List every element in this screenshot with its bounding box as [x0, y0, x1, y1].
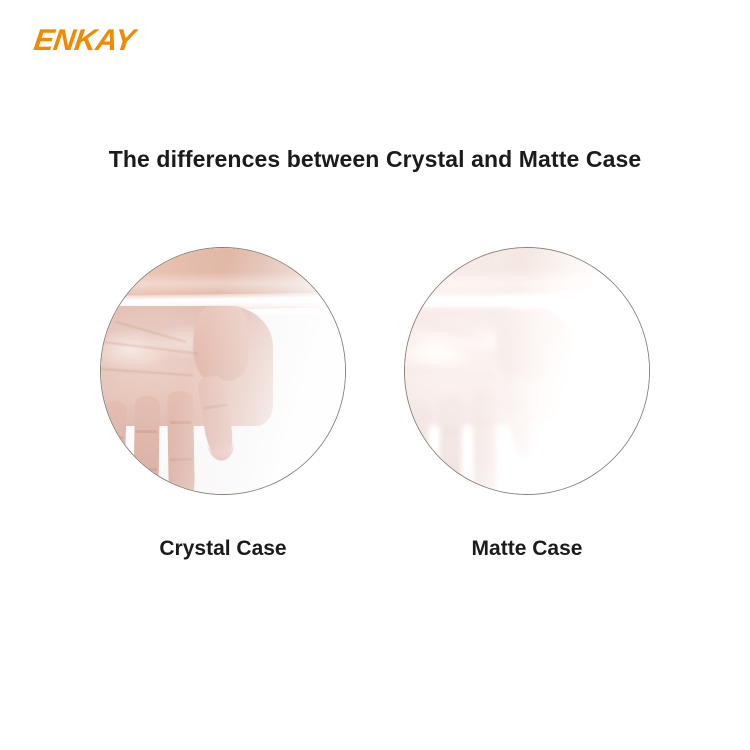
matte-diffusion-veil [405, 248, 649, 494]
caption-crystal-case: Crystal Case [100, 537, 346, 561]
brand-logo-text: ENKAY [32, 26, 137, 56]
crystal-case-scene [100, 247, 346, 495]
crystal-case-photo [100, 247, 346, 495]
page-title: The differences between Crystal and Matt… [0, 146, 750, 173]
comparison-item-matte [404, 247, 650, 495]
caption-matte-case: Matte Case [404, 537, 650, 561]
comparison-section [0, 247, 750, 497]
case-gloss-reflection [100, 247, 346, 495]
brand-logo: ENKAY [34, 26, 134, 56]
matte-case-photo [404, 247, 650, 495]
comparison-item-crystal [100, 247, 346, 495]
